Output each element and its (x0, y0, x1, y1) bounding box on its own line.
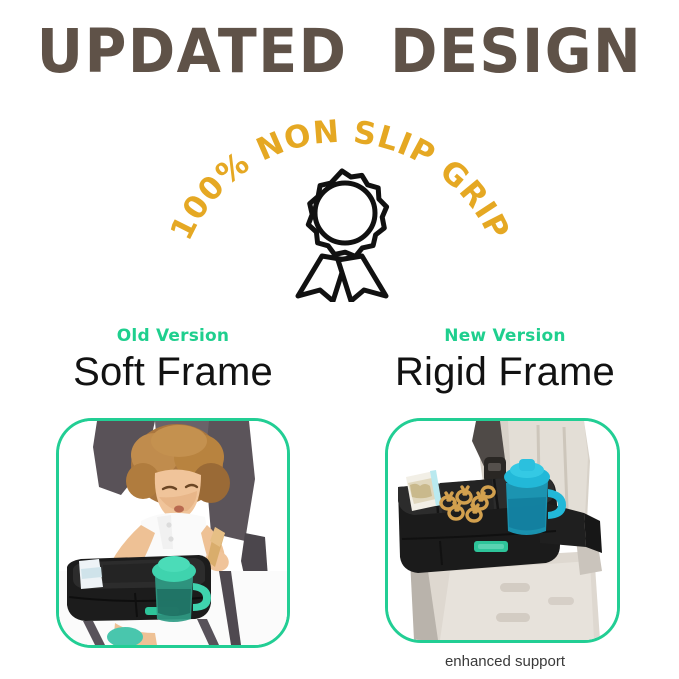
caption-enhanced-support: enhanced support (355, 652, 655, 672)
version-tag-old: Old Version (23, 326, 323, 346)
product-photo-old-version (56, 418, 290, 648)
version-tag-new: New Version (355, 326, 655, 346)
header: UPDATED DESIGN (0, 18, 679, 82)
frame-name-new: Rigid Frame (355, 348, 655, 396)
photo-canvas-old (59, 421, 287, 645)
non-slip-grip-badge: 100% NON SLIP GRIP (160, 110, 520, 310)
frame-name-old: Soft Frame (23, 348, 323, 396)
comparison-column-old: Old Version Soft Frame (23, 326, 323, 396)
photo-canvas-new (388, 421, 617, 640)
award-rosette-icon (288, 168, 396, 302)
page-title: UPDATED DESIGN (0, 18, 679, 86)
comparison-column-new: New Version Rigid Frame (355, 326, 655, 396)
product-photo-new-version (385, 418, 620, 643)
